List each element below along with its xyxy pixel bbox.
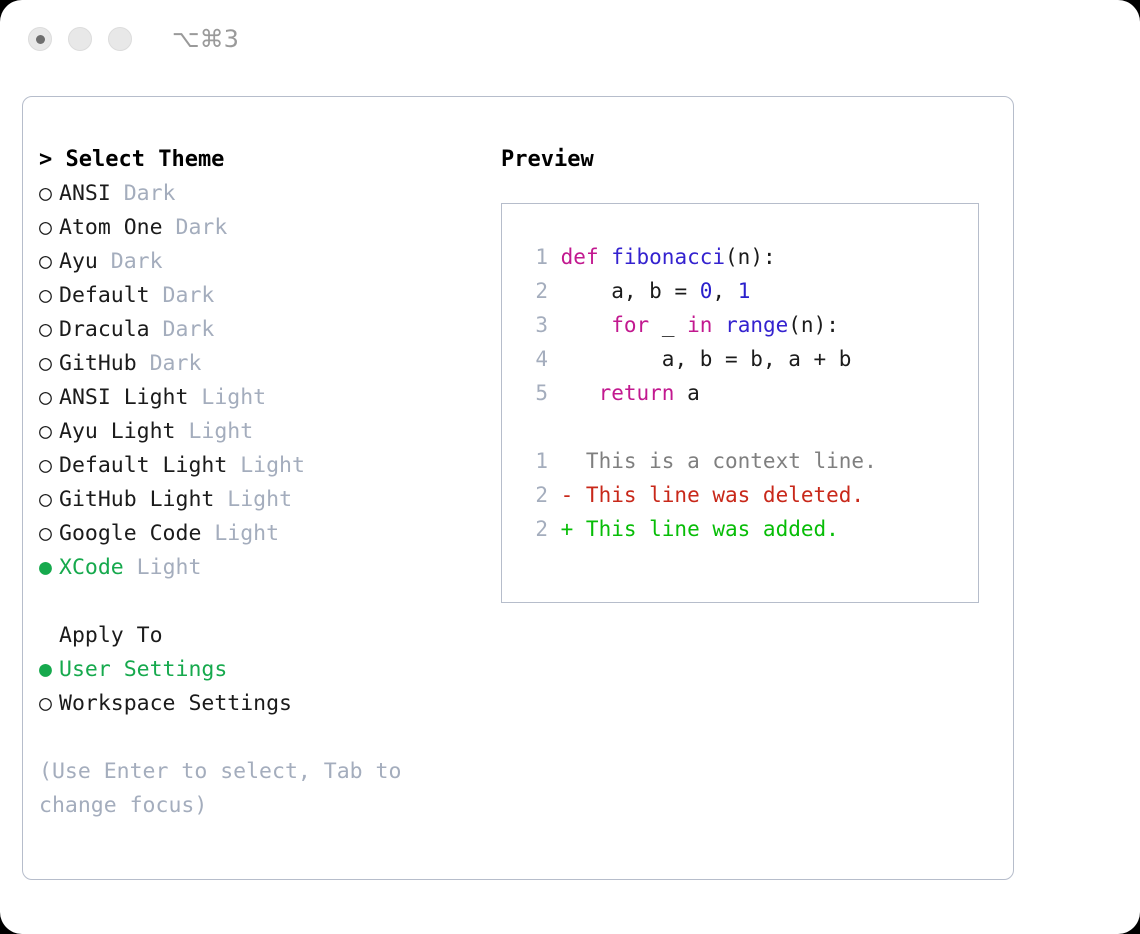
theme-kind-badge: Light xyxy=(188,385,266,410)
radio-unselected-icon: ○ xyxy=(39,687,59,721)
code-line-number: 5 xyxy=(520,376,548,410)
spacer xyxy=(39,721,479,755)
traffic-light-3[interactable] xyxy=(108,27,132,51)
code-token-kw: return xyxy=(599,381,675,405)
diff-line-number: 2 xyxy=(520,512,548,546)
radio-unselected-icon: ○ xyxy=(39,177,59,211)
theme-name: Ayu xyxy=(59,249,98,274)
spacer xyxy=(548,381,561,405)
theme-list-item[interactable]: ○ANSI Dark xyxy=(39,177,479,211)
apply-to-list: ●User Settings○Workspace Settings xyxy=(39,653,479,721)
record-dot-icon xyxy=(36,35,45,44)
theme-kind-badge: Light xyxy=(176,419,254,444)
apply-to-option[interactable]: ○Workspace Settings xyxy=(39,687,479,721)
theme-name: Atom One xyxy=(59,215,163,240)
theme-name: GitHub Light xyxy=(59,487,214,512)
spacer xyxy=(39,585,479,619)
theme-kind-badge: Dark xyxy=(150,283,215,308)
code-token-plain: (n): xyxy=(725,245,776,269)
code-token-plain xyxy=(712,313,725,337)
preview-box: 1 def fibonacci(n):2 a, b = 0, 13 for _ … xyxy=(501,203,979,603)
diff-line: 2 + This line was added. xyxy=(520,512,978,546)
apply-to-option[interactable]: ●User Settings xyxy=(39,653,479,687)
diff-line-number: 1 xyxy=(520,444,548,478)
theme-name: Dracula xyxy=(59,317,150,342)
code-line: 2 a, b = 0, 1 xyxy=(520,274,978,308)
theme-list-item[interactable]: ○Default Light Light xyxy=(39,449,479,483)
radio-unselected-icon: ○ xyxy=(39,313,59,347)
theme-list-item[interactable]: ●XCode Light xyxy=(39,551,479,585)
theme-kind-badge: Light xyxy=(124,555,202,580)
theme-name: Default xyxy=(59,283,150,308)
spacer xyxy=(548,279,561,303)
radio-unselected-icon: ○ xyxy=(39,211,59,245)
radio-unselected-icon: ○ xyxy=(39,245,59,279)
theme-list-item[interactable]: ○ANSI Light Light xyxy=(39,381,479,415)
traffic-light-group xyxy=(28,27,148,51)
radio-unselected-icon: ○ xyxy=(39,381,59,415)
theme-name: Ayu Light xyxy=(59,419,176,444)
preview-column: Preview 1 def fibonacci(n):2 a, b = 0, 1… xyxy=(501,143,1001,603)
theme-list: ○ANSI Dark○Atom One Dark○Ayu Dark○Defaul… xyxy=(39,177,479,585)
spacer xyxy=(520,410,978,444)
theme-kind-badge: Light xyxy=(227,453,305,478)
radio-unselected-icon: ○ xyxy=(39,279,59,313)
theme-list-item[interactable]: ○GitHub Dark xyxy=(39,347,479,381)
theme-name: ANSI xyxy=(59,181,111,206)
spacer xyxy=(548,347,561,371)
apply-to-label: Workspace Settings xyxy=(59,691,292,716)
theme-list-item[interactable]: ○Google Code Light xyxy=(39,517,479,551)
theme-list-item[interactable]: ○Ayu Dark xyxy=(39,245,479,279)
theme-name: Google Code xyxy=(59,521,201,546)
theme-selection-column: > Select Theme ○ANSI Dark○Atom One Dark○… xyxy=(39,143,479,823)
radio-unselected-icon: ○ xyxy=(39,347,59,381)
apply-to-header: Apply To xyxy=(39,619,479,653)
code-line-number: 1 xyxy=(520,240,548,274)
keyboard-hint-text: (Use Enter to select, Tab to change focu… xyxy=(39,755,449,823)
code-token-plain: (n): xyxy=(788,313,839,337)
diff-line: 1 This is a context line. xyxy=(520,444,978,478)
theme-name: GitHub xyxy=(59,351,137,376)
theme-name: Default Light xyxy=(59,453,227,478)
theme-kind-badge: Dark xyxy=(111,181,176,206)
code-token-plain: a xyxy=(674,381,699,405)
apply-to-label: User Settings xyxy=(59,657,227,682)
theme-list-item[interactable]: ○GitHub Light Light xyxy=(39,483,479,517)
code-line-number: 3 xyxy=(520,308,548,342)
theme-list-item[interactable]: ○Dracula Dark xyxy=(39,313,479,347)
diff-line-text: This is a context line. xyxy=(548,449,877,473)
app-window: ⌥⌘3 > Select Theme ○ANSI Dark○Atom One D… xyxy=(0,0,1140,934)
radio-selected-icon: ● xyxy=(39,551,59,585)
code-line-number: 4 xyxy=(520,342,548,376)
code-token-kw: for xyxy=(611,313,649,337)
traffic-light-2[interactable] xyxy=(68,27,92,51)
code-token-fn: fibonacci xyxy=(611,245,725,269)
code-line: 4 a, b = b, a + b xyxy=(520,342,978,376)
select-theme-header: > Select Theme xyxy=(39,143,479,177)
code-sample-block: 1 def fibonacci(n):2 a, b = 0, 13 for _ … xyxy=(520,240,978,410)
theme-list-item[interactable]: ○Atom One Dark xyxy=(39,211,479,245)
theme-kind-badge: Dark xyxy=(98,249,163,274)
theme-kind-badge: Dark xyxy=(137,351,202,376)
diff-line: 2 - This line was deleted. xyxy=(520,478,978,512)
code-line: 3 for _ in range(n): xyxy=(520,308,978,342)
code-token-kw: in xyxy=(687,313,712,337)
code-token-kw: def xyxy=(561,245,612,269)
code-token-num: 0 xyxy=(700,279,713,303)
diff-line-text: - This line was deleted. xyxy=(548,483,864,507)
code-line-number: 2 xyxy=(520,274,548,308)
radio-unselected-icon: ○ xyxy=(39,415,59,449)
theme-kind-badge: Light xyxy=(201,521,279,546)
radio-unselected-icon: ○ xyxy=(39,517,59,551)
diff-line-number: 2 xyxy=(520,478,548,512)
spacer xyxy=(548,245,561,269)
keyboard-shortcut-label: ⌥⌘3 xyxy=(172,25,239,53)
code-token-plain xyxy=(561,381,599,405)
theme-name: ANSI Light xyxy=(59,385,188,410)
title-bar: ⌥⌘3 xyxy=(0,0,1140,78)
spacer xyxy=(548,313,561,337)
code-token-plain: _ xyxy=(649,313,687,337)
theme-kind-badge: Dark xyxy=(163,215,228,240)
code-line: 1 def fibonacci(n): xyxy=(520,240,978,274)
theme-list-item[interactable]: ○Default Dark xyxy=(39,279,479,313)
preview-header: Preview xyxy=(501,143,1001,177)
diff-sample-block: 1 This is a context line.2 - This line w… xyxy=(520,444,978,546)
code-line: 5 return a xyxy=(520,376,978,410)
radio-unselected-icon: ○ xyxy=(39,483,59,517)
theme-name: XCode xyxy=(59,555,124,580)
theme-kind-badge: Dark xyxy=(150,317,215,342)
theme-kind-badge: Light xyxy=(214,487,292,512)
record-indicator[interactable] xyxy=(28,27,52,51)
radio-unselected-icon: ○ xyxy=(39,449,59,483)
code-token-plain: , xyxy=(712,279,737,303)
diff-line-text: + This line was added. xyxy=(548,517,839,541)
code-token-plain xyxy=(561,313,612,337)
terminal-panel: > Select Theme ○ANSI Dark○Atom One Dark○… xyxy=(22,96,1014,880)
code-token-plain: a, b = xyxy=(561,279,700,303)
code-token-num: 1 xyxy=(738,279,751,303)
theme-list-item[interactable]: ○Ayu Light Light xyxy=(39,415,479,449)
code-token-fn: range xyxy=(725,313,788,337)
code-token-plain: a, b = b, a + b xyxy=(561,347,852,371)
radio-selected-icon: ● xyxy=(39,653,59,687)
